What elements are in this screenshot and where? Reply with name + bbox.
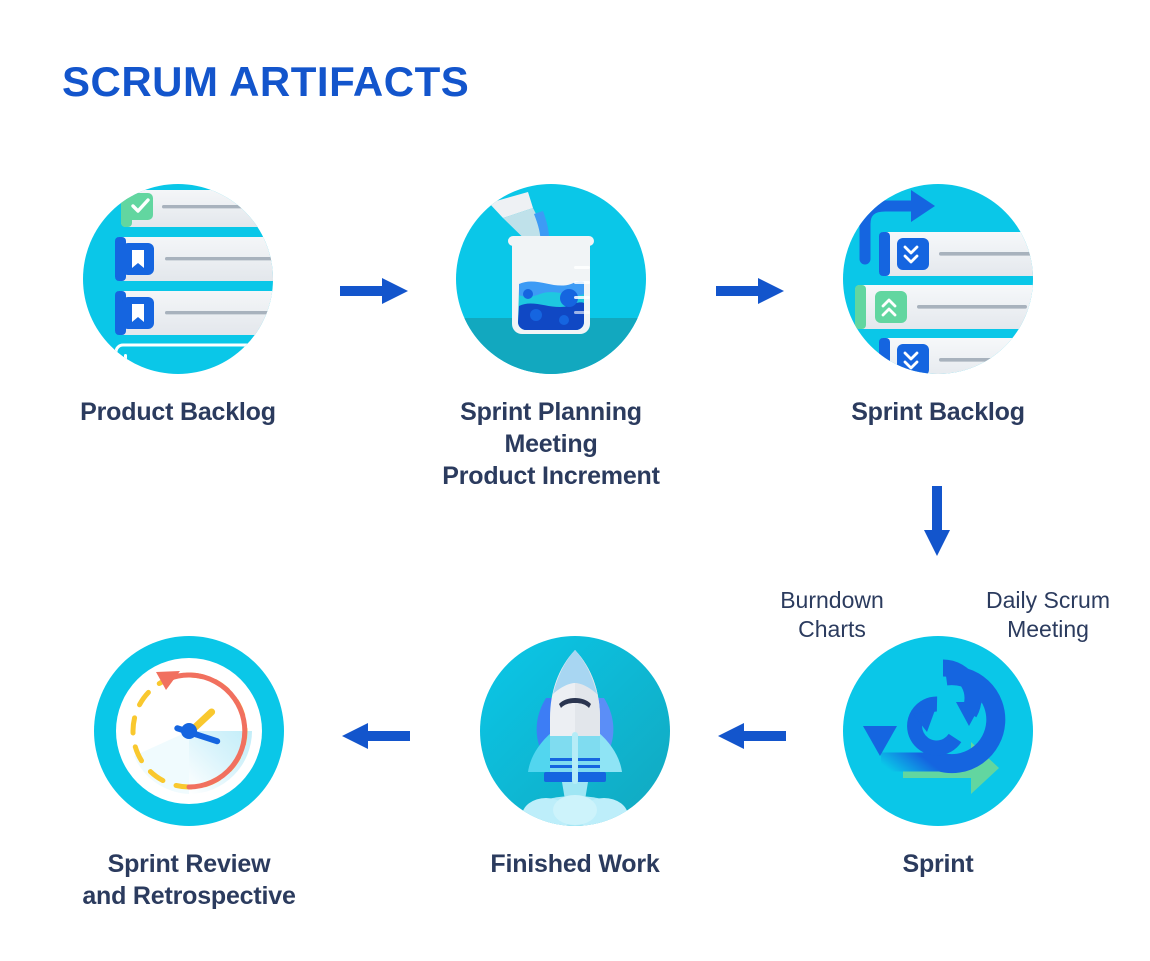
node-finished-work[interactable]: Finished Work — [445, 636, 705, 880]
label-line1: Daily Scrum — [953, 586, 1143, 615]
node-label-sprint-review: Sprint Review and Retrospective — [59, 848, 319, 912]
node-label-sprint: Sprint — [808, 848, 1068, 880]
node-label-sprint-backlog: Sprint Backlog — [808, 396, 1068, 428]
clock-icon — [94, 636, 284, 826]
node-product-backlog[interactable]: Product Backlog — [48, 184, 308, 428]
node-sprint[interactable]: Sprint — [808, 636, 1068, 880]
rocket-icon — [480, 636, 670, 826]
node-label-finished-work: Finished Work — [445, 848, 705, 880]
node-sprint-review[interactable]: Sprint Review and Retrospective — [59, 636, 319, 912]
label-daily-scrum-meeting: Daily Scrum Meeting — [953, 586, 1143, 644]
arrow-sprint-backlog-to-sprint — [920, 486, 954, 563]
beaker-icon — [456, 184, 646, 374]
node-sprint-backlog[interactable]: Sprint Backlog — [808, 184, 1068, 428]
node-sprint-planning[interactable]: Sprint Planning Meeting Product Incremen… — [421, 184, 681, 492]
node-label-sprint-planning: Sprint Planning Meeting Product Incremen… — [421, 396, 681, 492]
node-label-line2: Product Increment — [421, 460, 681, 492]
scrum-loop-icon — [843, 636, 1033, 826]
arrow-sprint-planning-to-sprint-backlog — [716, 275, 786, 312]
node-label-line1: Sprint Planning Meeting — [421, 396, 681, 460]
label-line1: Burndown — [737, 586, 927, 615]
backlog-list-icon — [83, 184, 273, 374]
arrow-product-backlog-to-sprint-planning — [340, 275, 410, 312]
arrow-finished-work-to-sprint-review — [340, 720, 410, 757]
node-label-line2: and Retrospective — [59, 880, 319, 912]
label-line2: Charts — [737, 615, 927, 644]
arrow-sprint-to-finished-work — [716, 720, 786, 757]
label-burndown-charts: Burndown Charts — [737, 586, 927, 644]
node-label-line1: Sprint Review — [59, 848, 319, 880]
page-title: SCRUM ARTIFACTS — [62, 58, 469, 106]
label-line2: Meeting — [953, 615, 1143, 644]
node-label-product-backlog: Product Backlog — [48, 396, 308, 428]
sprint-backlog-list-icon — [843, 184, 1033, 374]
